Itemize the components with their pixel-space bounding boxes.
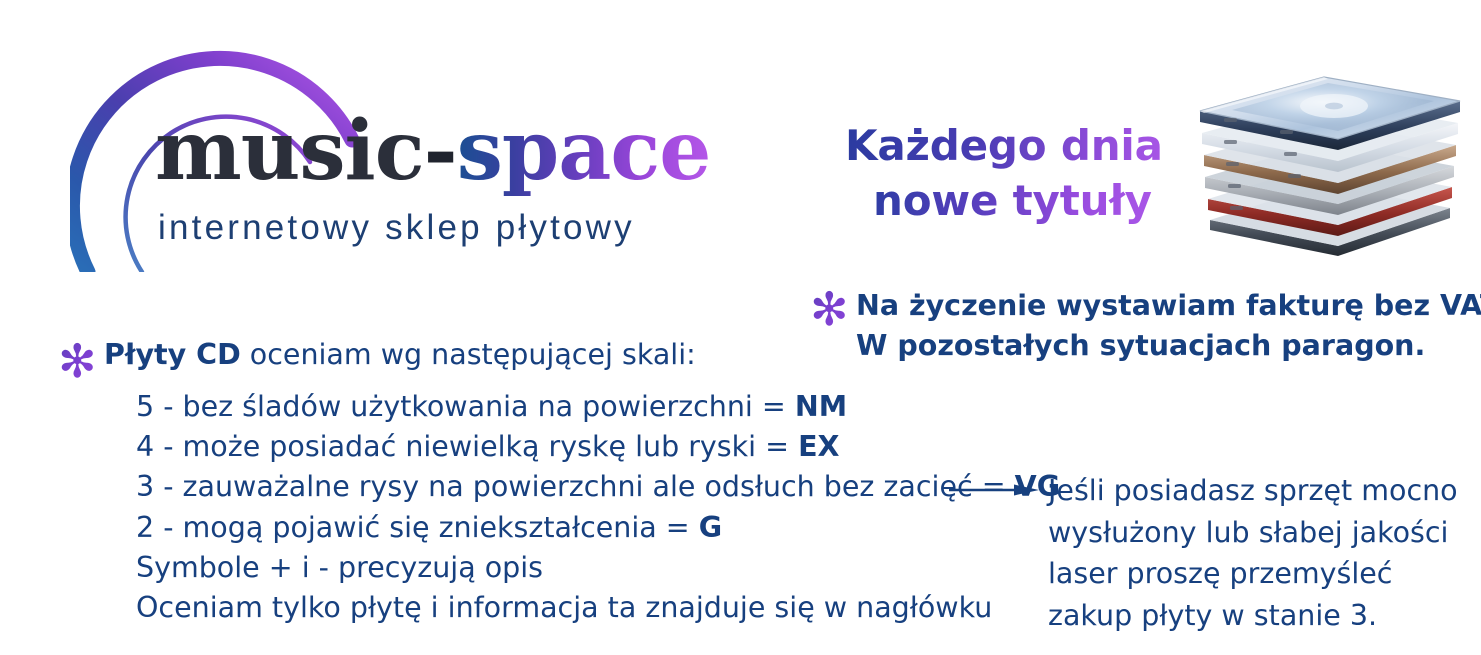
grade-desc: 4 - może posiadać niewielką ryskę lub ry…	[136, 430, 798, 463]
logo-tagline: internetowy sklep płytowy	[158, 208, 635, 248]
site-logo[interactable]: music-space internetowy sklep płytowy	[70, 22, 770, 272]
promo-banner: music-space internetowy sklep płytowy Ka…	[0, 0, 1481, 655]
list-item: Oceniam tylko płytę i informacja ta znaj…	[136, 588, 958, 628]
vat-note-line-1: Na życzenie wystawiam fakturę bez VAT.	[856, 286, 1430, 326]
asterisk-icon: ✻	[58, 338, 97, 384]
logo-word-dash: -	[424, 103, 457, 199]
slogan-line-1: Każdego dnia	[845, 118, 1163, 173]
arrow-right-icon	[948, 478, 1040, 502]
advice-line-1: Jeśli posiadasz sprzęt mocno	[1048, 470, 1448, 512]
logo-word-space: space	[457, 103, 711, 199]
list-item: 3 - zauważalne rysy na powierzchni ale o…	[136, 467, 958, 507]
grade-code: EX	[798, 430, 839, 463]
grading-heading-rest: oceniam wg następującej skali:	[241, 338, 696, 371]
list-item: 2 - mogą pojawić się zniekształcenia = G	[136, 508, 958, 548]
advice-line-4: zakup płyty w stanie 3.	[1048, 595, 1448, 637]
grade-desc: 3 - zauważalne rysy na powierzchni ale o…	[136, 470, 1015, 503]
advice-note: Jeśli posiadasz sprzęt mocno wysłużony l…	[1048, 470, 1448, 636]
logo-word-music: music	[155, 103, 424, 199]
logo-wordmark: music-space	[155, 110, 710, 192]
list-item: 5 - bez śladów użytkowania na powierzchn…	[136, 387, 958, 427]
grading-list: 5 - bez śladów użytkowania na powierzchn…	[136, 387, 958, 628]
grade-desc: Symbole + i - precyzują opis	[136, 551, 543, 584]
cd-jewel-case-stack-image	[1188, 58, 1470, 280]
list-item: 4 - może posiadać niewielką ryskę lub ry…	[136, 427, 958, 467]
advice-line-2: wysłużony lub słabej jakości	[1048, 512, 1448, 554]
list-item: Symbole + i - precyzują opis	[136, 548, 958, 588]
grade-code: G	[699, 511, 722, 544]
grade-code: NM	[795, 390, 847, 423]
slogan: Każdego dnia nowe tytuły	[845, 118, 1163, 229]
grading-heading-strong: Płyty CD	[104, 338, 241, 371]
grade-desc: 5 - bez śladów użytkowania na powierzchn…	[136, 390, 795, 423]
grading-heading: Płyty CD oceniam wg następującej skali:	[104, 338, 958, 371]
grade-desc: 2 - mogą pojawić się zniekształcenia =	[136, 511, 699, 544]
asterisk-icon: ✻	[810, 286, 849, 332]
advice-line-3: laser proszę przemyśleć	[1048, 553, 1448, 595]
slogan-line-2: nowe tytuły	[873, 173, 1163, 228]
grading-scale-block: ✻ Płyty CD oceniam wg następującej skali…	[58, 338, 958, 628]
grade-desc: Oceniam tylko płytę i informacja ta znaj…	[136, 591, 992, 624]
